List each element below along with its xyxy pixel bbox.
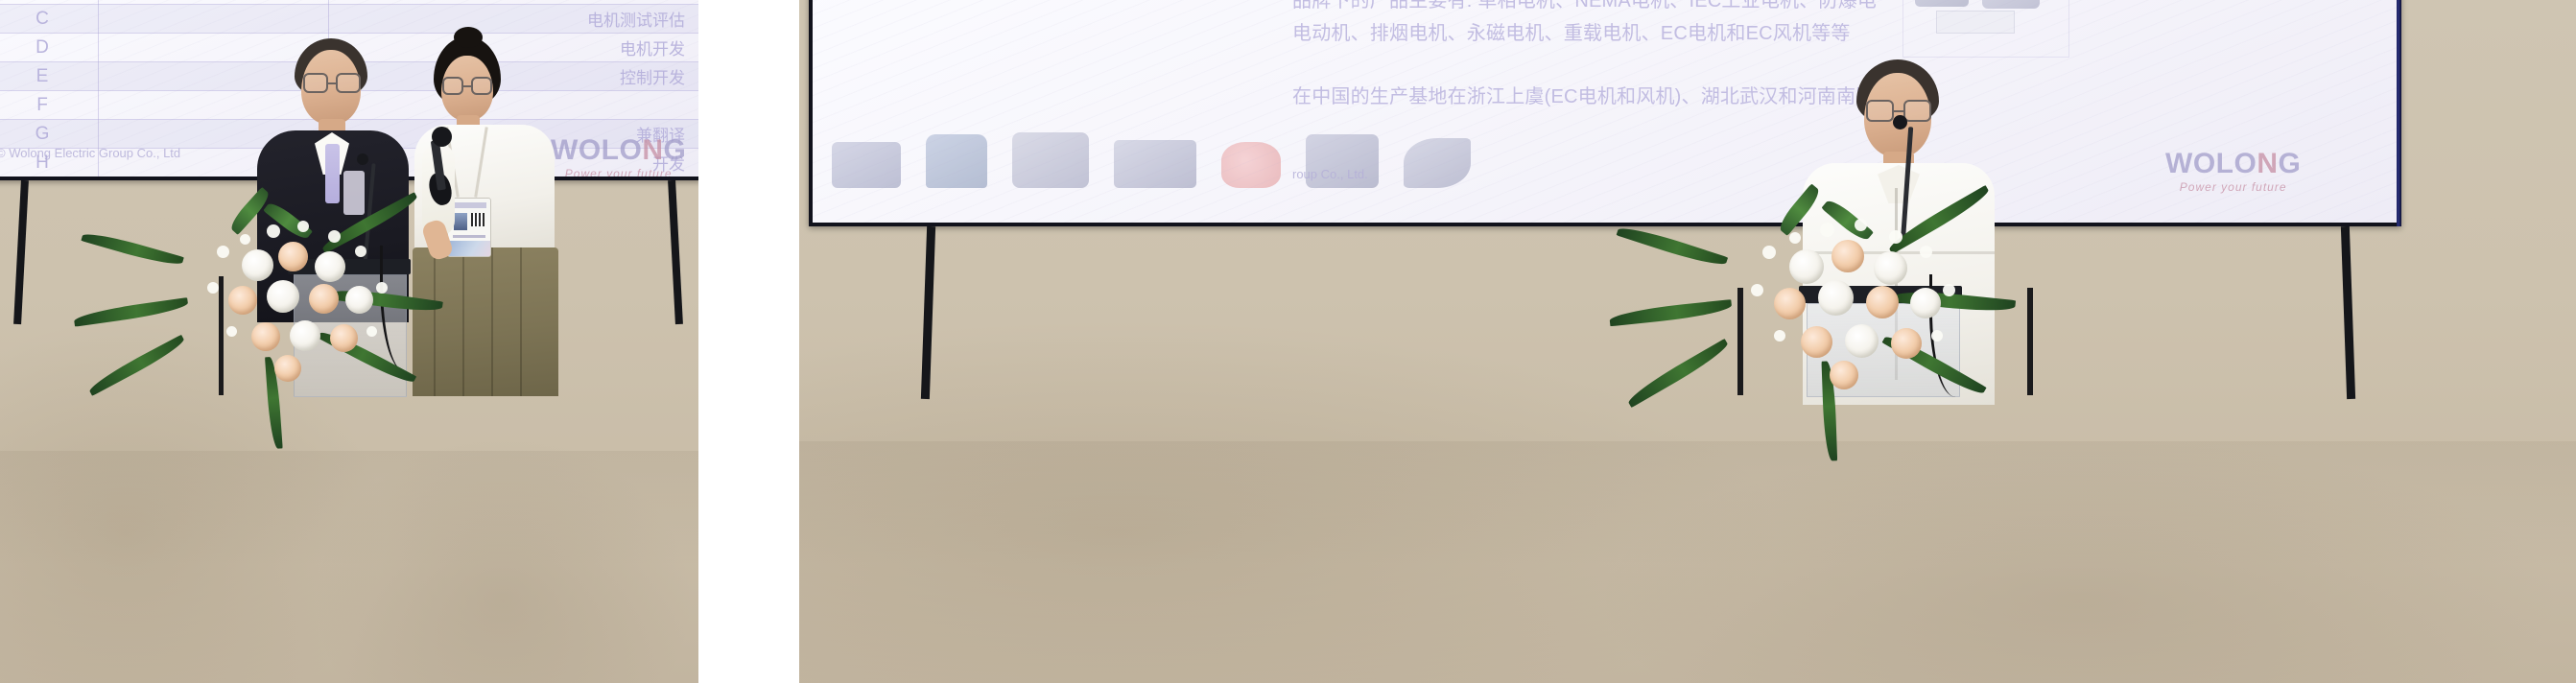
flower-bouquet [1720,184,2008,400]
peach-rose [1832,240,1864,272]
peach-rose [1866,286,1899,318]
glasses-lens [442,77,463,95]
row-letter: C [0,5,109,34]
badge-footer [448,241,490,256]
peach-rose [228,286,257,315]
babys-breath [207,282,219,294]
leaf [1776,183,1824,236]
babys-breath [1762,246,1776,259]
babys-breath [1751,284,1763,296]
product-motor-image [926,134,987,188]
wolong-accent-letter: N [2257,148,2278,179]
babys-breath [1820,223,1834,237]
white-rose [1818,280,1854,316]
slide-paragraph: 品牌下的产品主要有: 单相电机、NEMA电机、IEC工业电机、防爆电 [1292,0,1877,16]
babys-breath [355,246,366,257]
wolong-accent-letter: N [642,134,663,166]
glasses-icon [303,73,361,93]
row-letter: D [0,34,109,62]
glasses-bridge [463,85,470,87]
flower-bouquet [178,182,437,398]
babys-breath [376,282,388,294]
screenshot-root: B 研发总助理 C 电机测试评估 D 电机开发 [0,0,2576,683]
babys-breath [1920,246,1932,258]
palm-frond [1886,185,1993,254]
wolong-wordmark: WOLONG [2165,150,2301,178]
babys-breath [1855,219,1867,231]
skirt-pleat [491,247,493,396]
wall-shadow-band [0,451,698,566]
glasses-bridge [1894,110,1902,112]
badge-photo [454,213,467,230]
babys-breath [1789,232,1801,244]
white-rose [1874,251,1907,285]
product-motor-image [832,142,901,188]
product-motor-image [1012,132,1089,188]
glasses-lens [471,77,492,95]
row-mid [109,5,351,34]
peach-rose [1891,328,1922,359]
slide-copyright: roup Co., Ltd. [1292,167,1368,181]
babys-breath [1943,284,1955,296]
slide-copyright: © Wolong Electric Group Co., Ltd [0,146,180,160]
white-rose [315,251,345,282]
wolong-word-before: WOLO [551,134,642,166]
babys-breath [240,234,250,245]
row-letter: E [0,62,109,91]
peach-rose [330,324,358,352]
babys-breath [297,221,309,232]
microphone-head [432,127,452,147]
leaf [1821,197,1874,245]
babys-breath [1774,330,1785,341]
white-rose [1789,249,1824,284]
glasses-lens [336,73,361,93]
slide-paragraph: 电动机、排烟电机、永磁电机、重载电机、EC电机和EC风机等等 [1292,19,1851,49]
white-rose [242,249,273,281]
glasses-lens [1903,100,1931,122]
product-motor-image [1982,0,2040,9]
wolong-wordmark: WOLONG [551,136,686,165]
gooseneck-microphone-head [1893,115,1907,130]
wolong-logo: WOLONG Power your future [2165,150,2301,193]
badge-qr-code [471,213,484,226]
gooseneck-microphone-head [357,153,368,165]
glasses-bridge [328,82,337,84]
white-rose [1910,288,1941,318]
babys-breath [328,230,341,243]
row-letter: F [0,91,109,120]
product-motor-image [1114,140,1196,188]
row-desc: 控制开发 [351,62,698,91]
peach-rose [1801,326,1832,358]
slide-paragraph: 在中国的生产基地在浙江上虞(EC电机和风机)、湖北武汉和河南南阳 [1292,82,1876,112]
wolong-tagline: Power your future [2165,181,2301,193]
row-desc [351,91,698,120]
peach-rose [1774,288,1806,319]
stand-pole [2027,288,2033,395]
product-label [1936,11,2015,34]
glasses-icon [442,77,492,95]
babys-breath [1889,230,1902,244]
wolong-word-after: G [2278,148,2301,179]
product-image-strip [832,132,1471,188]
babys-breath [217,246,229,258]
product-fan-image [1221,142,1281,188]
product-motor-image [1915,0,1969,7]
babys-breath [366,326,377,337]
white-rose [290,320,320,351]
babys-breath [226,326,237,337]
peach-rose [274,355,301,382]
row-desc: 电机测试评估 [351,5,698,34]
hair-bun [454,27,483,48]
panel-separator [698,0,799,683]
palm-frond [319,192,420,253]
peach-rose [309,284,339,314]
table-row: C 电机测试评估 [0,5,698,34]
row-letter: G [0,120,109,149]
white-rose [267,280,299,313]
white-rose [1845,324,1879,358]
wolong-word-before: WOLO [2165,148,2257,179]
product-group-frame [1902,0,2069,58]
wall-shadow-band [799,441,2576,566]
product-motor-image [1404,138,1471,188]
glasses-lens [1866,100,1894,122]
babys-breath [1931,330,1943,341]
screen-surface: 品牌下的产品主要有: 单相电机、NEMA电机、IEC工业电机、防爆电 电动机、排… [813,0,2398,223]
wolong-tagline: Power your future [551,168,686,177]
badge-line [453,235,485,238]
wolong-logo: WOLONG Power your future [551,136,686,177]
left-photo: B 研发总助理 C 电机测试评估 D 电机开发 [0,0,698,683]
skirt-pleat [520,247,522,396]
skirt-pleat [462,247,464,396]
peach-rose [278,242,308,271]
projection-screen-right: 品牌下的产品主要有: 单相电机、NEMA电机、IEC工业电机、防爆电 电动机、排… [809,0,2401,226]
peach-rose [251,322,280,351]
badge-header [452,202,486,208]
peach-rose [1830,361,1858,389]
babys-breath [267,224,280,238]
row-desc: 电机开发 [351,34,698,62]
white-rose [345,286,373,314]
right-photo: 品牌下的产品主要有: 单相电机、NEMA电机、IEC工业电机、防爆电 电动机、排… [799,0,2576,683]
glasses-lens [303,73,328,93]
screen-bezel-highlight [2397,0,2401,226]
wolong-word-after: G [663,134,686,166]
